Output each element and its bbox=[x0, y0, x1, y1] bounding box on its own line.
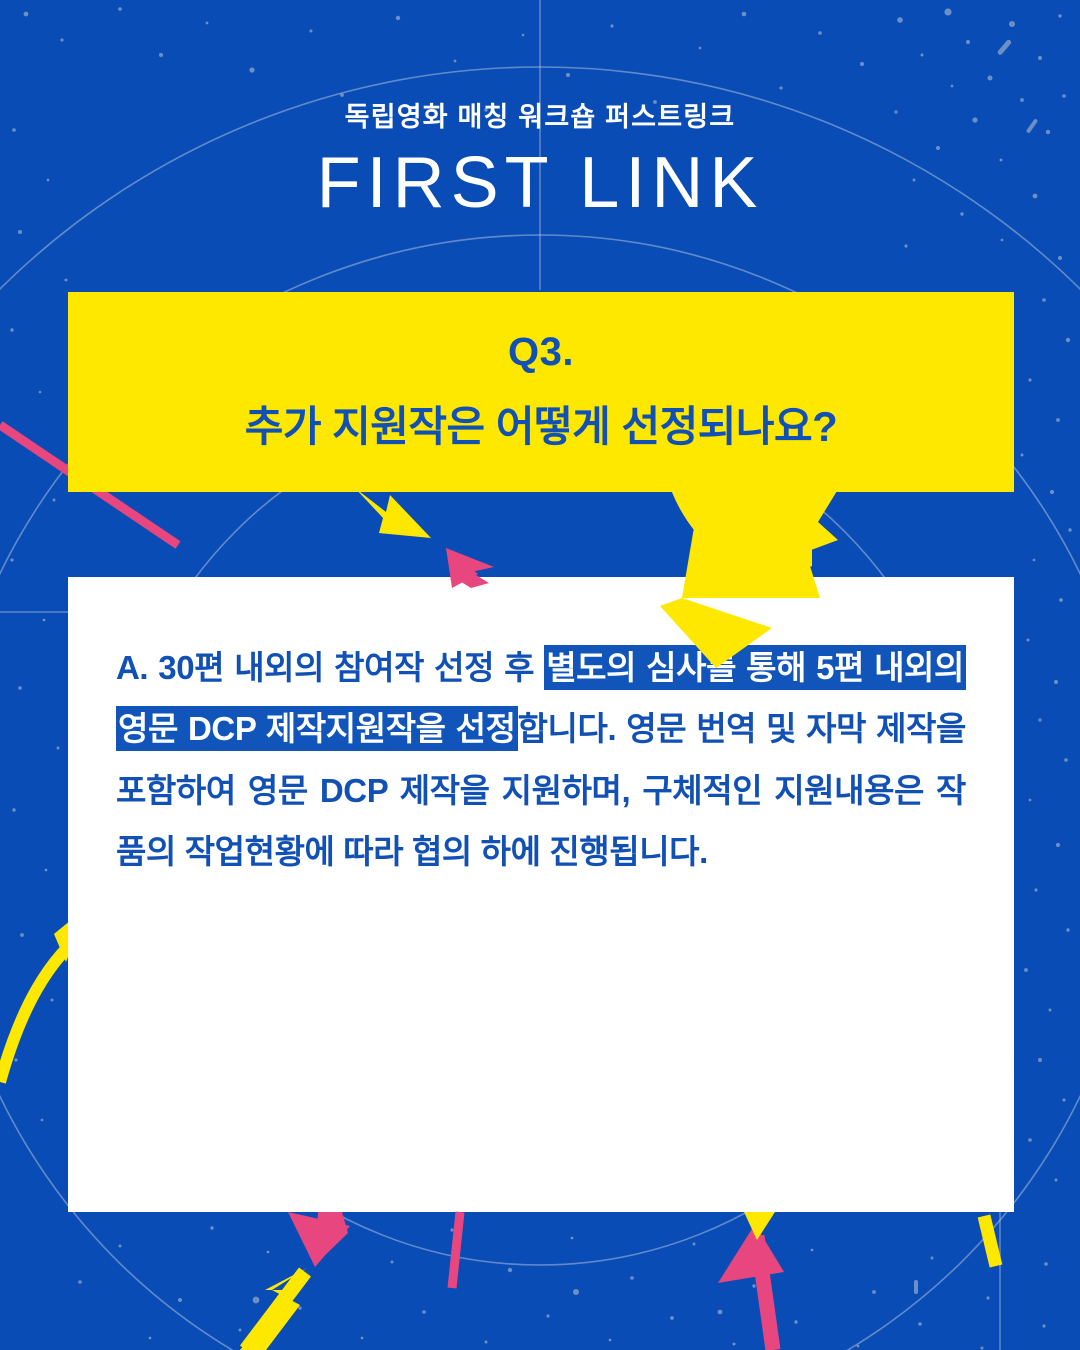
question-number: Q3. bbox=[508, 330, 574, 375]
question-box: Q3. 추가 지원작은 어떻게 선정되나요? bbox=[68, 292, 1014, 492]
question-text: 추가 지원작은 어떻게 선정되나요? bbox=[245, 393, 838, 454]
answer-text: A. 30편 내외의 참여작 선정 후 별도의 심사를 통해 5편 내외의 영문… bbox=[116, 637, 966, 883]
answer-prefix: A. 30편 내외의 참여작 선정 후 bbox=[116, 649, 544, 686]
answer-box: A. 30편 내외의 참여작 선정 후 별도의 심사를 통해 5편 내외의 영문… bbox=[68, 577, 1014, 1212]
poster-canvas: 독립영화 매칭 워크숍 퍼스트링크 FIRST LINK Q3. 추가 지원작은… bbox=[0, 0, 1080, 1350]
